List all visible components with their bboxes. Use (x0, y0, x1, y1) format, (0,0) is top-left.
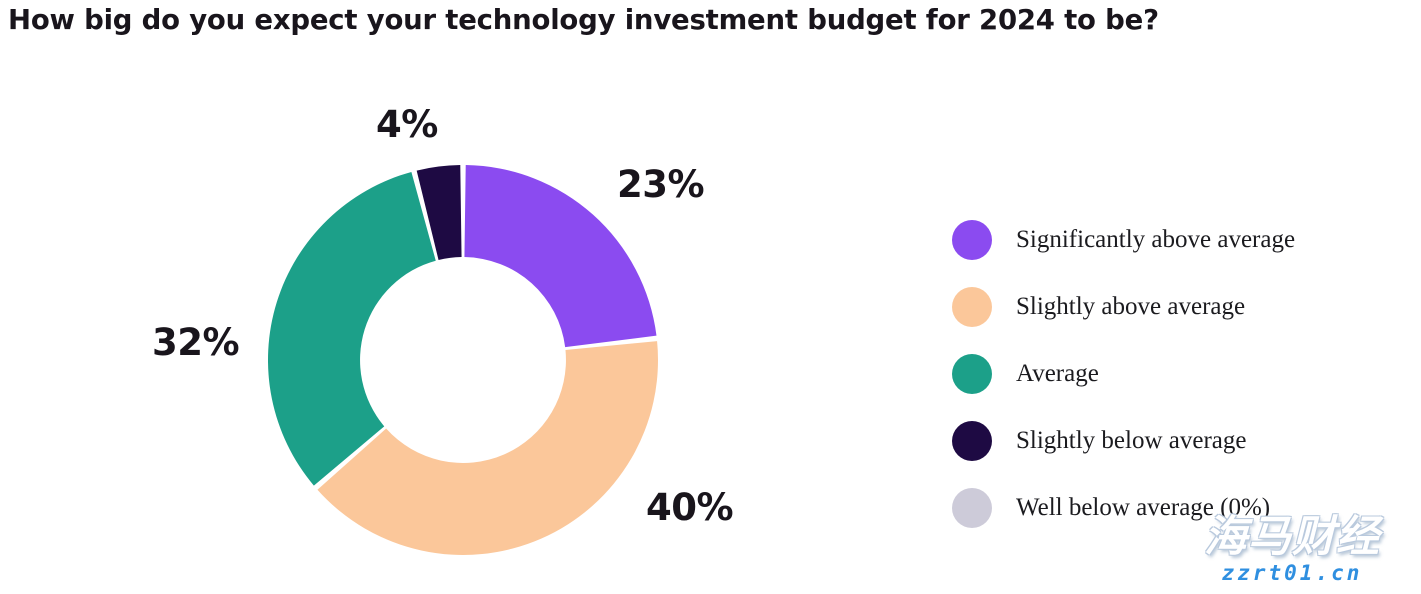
donut-chart (268, 165, 658, 555)
slice-data-label-average: 32% (152, 321, 239, 364)
slice-data-label-slightly-above-average: 40% (646, 486, 733, 529)
legend-item-slightly-above-average[interactable]: Slightly above average (952, 273, 1392, 340)
donut-slice-group (268, 165, 658, 555)
legend-swatch-icon (952, 488, 992, 528)
legend-swatch-icon (952, 421, 992, 461)
legend-swatch-icon (952, 354, 992, 394)
legend-item-significantly-above-average[interactable]: Significantly above average (952, 206, 1392, 273)
chart-legend: Significantly above average Slightly abo… (952, 206, 1392, 541)
legend-swatch-icon (952, 220, 992, 260)
legend-item-slightly-below-average[interactable]: Slightly below average (952, 407, 1392, 474)
legend-item-label: Average (1016, 361, 1099, 386)
donut-slice[interactable] (317, 341, 658, 555)
legend-swatch-icon (952, 287, 992, 327)
legend-item-label: Slightly below average (1016, 428, 1247, 453)
legend-item-label: Significantly above average (1016, 227, 1295, 252)
donut-slice[interactable] (268, 172, 436, 486)
slice-data-label-slightly-below-average: 4% (376, 103, 438, 146)
chart-title: How big do you expect your technology in… (8, 4, 1348, 36)
donut-chart-svg (268, 165, 658, 555)
legend-item-well-below-average[interactable]: Well below average (0%) (952, 474, 1392, 541)
slice-data-label-significantly-above-average: 23% (617, 163, 704, 206)
legend-item-average[interactable]: Average (952, 340, 1392, 407)
watermark-domain-text: zzrt01.cn (1168, 560, 1416, 586)
legend-item-label: Slightly above average (1016, 294, 1245, 319)
legend-item-label: Well below average (0%) (1016, 495, 1270, 520)
